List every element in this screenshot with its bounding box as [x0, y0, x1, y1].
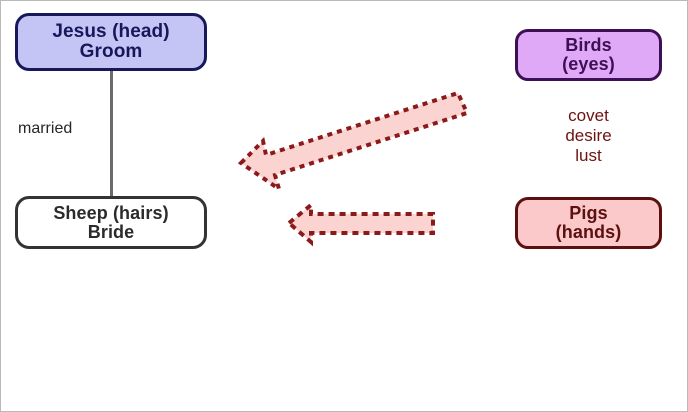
node-sheep-line2: Bride — [88, 223, 135, 242]
node-birds-line1: Birds — [565, 36, 612, 55]
edge-married-label: married — [18, 120, 72, 138]
node-jesus-groom[interactable]: Jesus (head) Groom — [15, 13, 207, 71]
node-sheep-bride[interactable]: Sheep (hairs) Bride — [15, 196, 207, 249]
node-pigs-hands[interactable]: Pigs (hands) — [515, 197, 662, 249]
arrow-birds-to-bride-shape — [241, 93, 467, 189]
edge-married-line — [110, 71, 113, 197]
annotation-sins-line2: desire — [515, 126, 662, 146]
node-sheep-line1: Sheep (hairs) — [53, 204, 168, 223]
annotation-sins: covet desire lust — [515, 106, 662, 166]
annotation-sins-line1: covet — [515, 106, 662, 126]
node-pigs-line2: (hands) — [556, 223, 622, 242]
arrow-pigs-to-bride[interactable] — [283, 199, 448, 254]
node-birds-line2: (eyes) — [562, 55, 615, 74]
node-jesus-line1: Jesus (head) — [52, 22, 169, 42]
arrow-pigs-to-bride-shape — [289, 205, 433, 242]
annotation-sins-line3: lust — [515, 146, 662, 166]
node-birds-eyes[interactable]: Birds (eyes) — [515, 29, 662, 81]
arrow-birds-to-bride[interactable] — [227, 83, 477, 203]
diagram-canvas: married Jesus (head) Groom Sheep (hairs)… — [0, 0, 688, 412]
node-pigs-line1: Pigs — [569, 204, 607, 223]
node-jesus-line2: Groom — [80, 42, 143, 62]
